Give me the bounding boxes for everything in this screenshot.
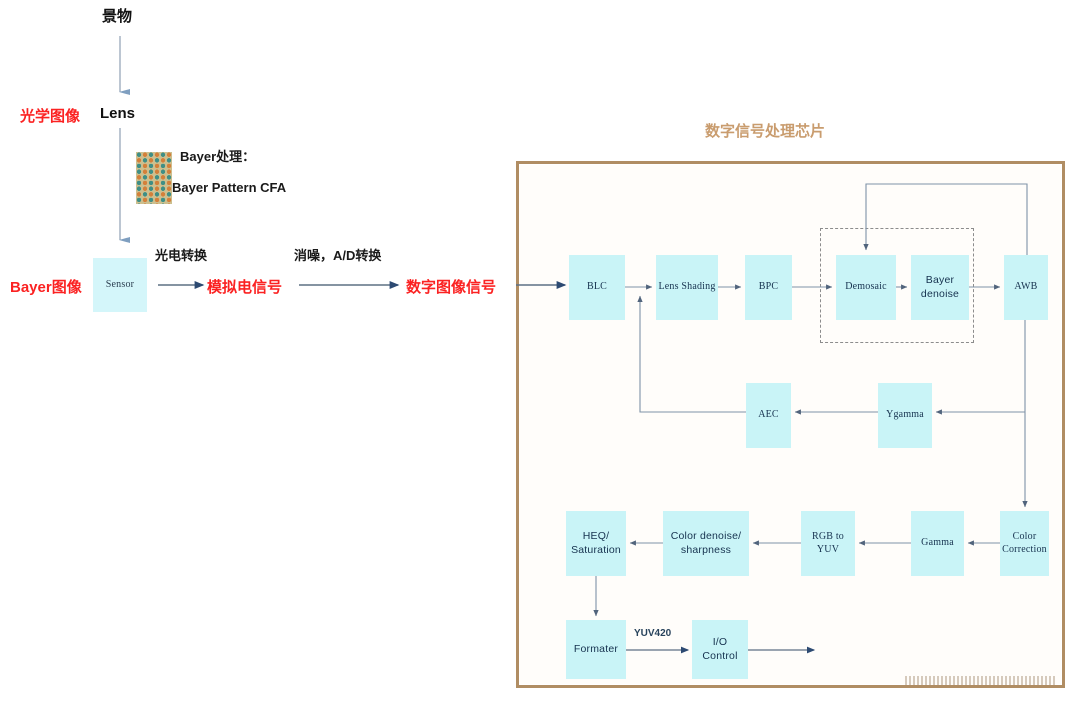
watermark-strip — [905, 676, 1055, 685]
pipeline-box-rgb-to-yuv[interactable]: RGB to YUV — [801, 511, 855, 576]
pipeline-box-blc[interactable]: BLC — [569, 255, 625, 320]
bayer-pattern-cfa-swatch-icon — [136, 152, 172, 204]
pipeline-box-demosaic[interactable]: Demosaic — [836, 255, 896, 320]
pipeline-box-bpc[interactable]: BPC — [745, 255, 792, 320]
lens-label: Lens — [100, 105, 135, 122]
digital-image-signal-label: 数字图像信号 — [406, 276, 496, 297]
bayer-image-label: Bayer图像 — [10, 276, 82, 297]
pipeline-box-heq-saturation[interactable]: HEQ/ Saturation — [566, 511, 626, 576]
cfa-caption-line1: Bayer处理： — [180, 146, 255, 165]
dsp-chip-title: 数字信号处理芯片 — [705, 120, 825, 141]
denoise-ad-conversion-label: 消噪，A/D转换 — [294, 245, 381, 264]
pipeline-box-gamma[interactable]: Gamma — [911, 511, 964, 576]
pipeline-box-ygamma[interactable]: Ygamma — [878, 383, 932, 448]
photo-electric-conversion-label: 光电转换 — [155, 245, 207, 264]
scene-label: 景物 — [102, 5, 132, 26]
pipeline-box-color-correction[interactable]: Color Correction — [1000, 511, 1049, 576]
edge-label-yuv420: YUV420 — [634, 628, 671, 639]
diagram-canvas: 数字信号处理芯片 — [0, 0, 1080, 708]
pipeline-box-io-control[interactable]: I/O Control — [692, 620, 748, 679]
sensor-box[interactable]: Sensor — [93, 258, 147, 312]
analog-signal-label: 模拟电信号 — [207, 276, 282, 297]
pipeline-box-lens-shading[interactable]: Lens Shading — [656, 255, 718, 320]
pipeline-box-color-denoise-sharpness[interactable]: Color denoise/ sharpness — [663, 511, 749, 576]
pipeline-box-aec[interactable]: AEC — [746, 383, 791, 448]
pipeline-box-formater[interactable]: Formater — [566, 620, 626, 679]
optical-image-label: 光学图像 — [20, 105, 80, 126]
pipeline-box-bayer-denoise[interactable]: Bayer denoise — [911, 255, 969, 320]
cfa-caption-line2: Bayer Pattern CFA — [172, 180, 286, 195]
pipeline-box-awb[interactable]: AWB — [1004, 255, 1048, 320]
